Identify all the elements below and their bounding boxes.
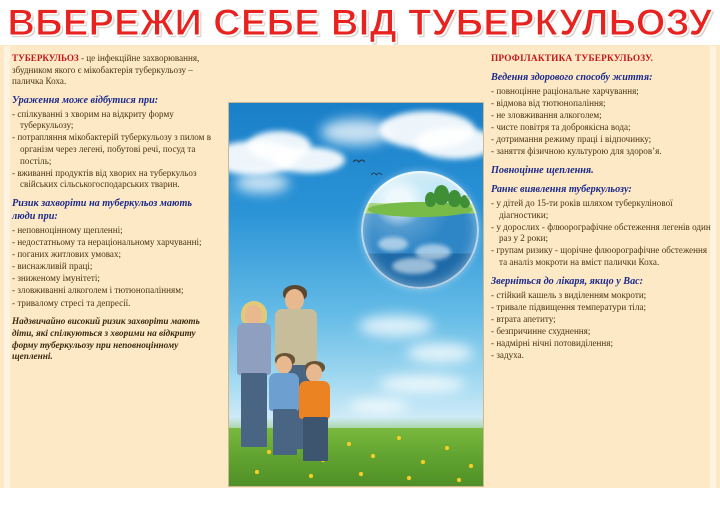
list-item: у дорослих - флюорографічне обстеження л…	[491, 222, 713, 245]
list-item: потрапляння мікобактерій туберкульозу з …	[12, 132, 217, 167]
cloud-shape	[379, 375, 465, 393]
list-item: відмова від тютюнопаління;	[491, 98, 713, 110]
list-item: чисте повітря та доброякісна вода;	[491, 122, 713, 134]
left-section2-list: неповноцінному щепленні; недостатньому т…	[12, 225, 217, 309]
left-section1-list: спілкуванні з хворим на відкриту форму т…	[12, 109, 217, 191]
list-item: дотримання режиму праці і відпочинку;	[491, 134, 713, 146]
list-item: повноцінне раціональне харчування;	[491, 86, 713, 98]
intro-keyword: ТУБЕРКУЛЬОЗ	[12, 53, 79, 63]
tuberculosis-prevention-poster: ВБЕРЕЖИ СЕБЕ ВІД ТУБЕРКУЛЬОЗУ ТУБЕРКУЛЬО…	[0, 0, 720, 505]
list-item: втрата апетиту;	[491, 314, 713, 326]
right-section1-heading: Ведення здорового способу життя:	[491, 71, 713, 84]
eco-bubble-icon	[361, 171, 479, 289]
list-item: стійкий кашель з виділенням мокроти;	[491, 290, 713, 302]
left-rail	[4, 46, 10, 489]
list-item: у дітей до 15-ти років шляхом туберкулін…	[491, 198, 713, 221]
list-item: поганих житлових умовах;	[12, 249, 217, 261]
list-item: неповноцінному щепленні;	[12, 225, 217, 237]
family-eco-photo	[228, 102, 484, 487]
page-title: ВБЕРЕЖИ СЕБЕ ВІД ТУБЕРКУЛЬОЗУ	[0, 2, 720, 44]
cloud-shape	[407, 343, 473, 363]
right-section3-list: у дітей до 15-ти років шляхом туберкулін…	[491, 198, 713, 269]
cloud-shape	[273, 147, 345, 173]
right-column-title: ПРОФІЛАКТИКА ТУБЕРКУЛЬОЗУ.	[491, 53, 713, 65]
list-item: тривале підвищення температури тіла;	[491, 302, 713, 314]
list-item: надмірні нічні потовиділення;	[491, 338, 713, 350]
bird-icon	[353, 158, 363, 163]
intro-paragraph: ТУБЕРКУЛЬОЗ - це інфекційне захворювання…	[12, 53, 217, 88]
list-item: задуха.	[491, 350, 713, 362]
list-item: заняття фізичною культурою для здоров’я.	[491, 146, 713, 158]
right-section3-heading: Раннє виявлення туберкульозу:	[491, 183, 713, 196]
right-section4-heading: Зверніться до лікаря, якщо у Вас:	[491, 275, 713, 288]
right-section2-heading: Повноцінне щеплення.	[491, 164, 713, 177]
cloud-shape	[235, 173, 289, 193]
left-note: Надзвичайно високий ризик захворіти мают…	[12, 316, 217, 363]
left-column: ТУБЕРКУЛЬОЗ - це інфекційне захворювання…	[12, 53, 217, 363]
cloud-shape	[415, 127, 484, 159]
right-column: ПРОФІЛАКТИКА ТУБЕРКУЛЬОЗУ. Ведення здоро…	[491, 53, 713, 364]
list-item: групам ризику - щорічне флюорографічне о…	[491, 245, 713, 268]
right-section4-list: стійкий кашель з виділенням мокроти; три…	[491, 290, 713, 362]
left-section1-heading: Ураження може відбутися при:	[12, 94, 217, 107]
cloud-shape	[359, 315, 433, 337]
list-item: безпричинне схуднення;	[491, 326, 713, 338]
cloud-shape	[349, 399, 409, 413]
list-item: виснажливій праці;	[12, 261, 217, 273]
list-item: не зловживання алкоголем;	[491, 110, 713, 122]
list-item: зловживанні алкоголем і тютюнопалінням;	[12, 285, 217, 297]
person-boy-orange	[297, 361, 337, 457]
right-section1-list: повноцінне раціональне харчування; відмо…	[491, 86, 713, 158]
list-item: тривалому стресі та депресії.	[12, 298, 217, 310]
list-item: вживанні продуктів від хворих на туберку…	[12, 168, 217, 191]
list-item: зниженому імунітеті;	[12, 273, 217, 285]
list-item: недостатньому та нераціональному харчува…	[12, 237, 217, 249]
bubble-rim	[361, 171, 479, 289]
title-band: ВБЕРЕЖИ СЕБЕ ВІД ТУБЕРКУЛЬОЗУ	[0, 0, 720, 46]
poster-body: ТУБЕРКУЛЬОЗ - це інфекційне захворювання…	[0, 45, 720, 488]
list-item: спілкуванні з хворим на відкриту форму т…	[12, 109, 217, 132]
bottom-white-strip	[0, 488, 720, 505]
left-section2-heading: Ризик захворіти на туберкульоз мають люд…	[12, 197, 217, 223]
bird-icon	[371, 171, 381, 176]
